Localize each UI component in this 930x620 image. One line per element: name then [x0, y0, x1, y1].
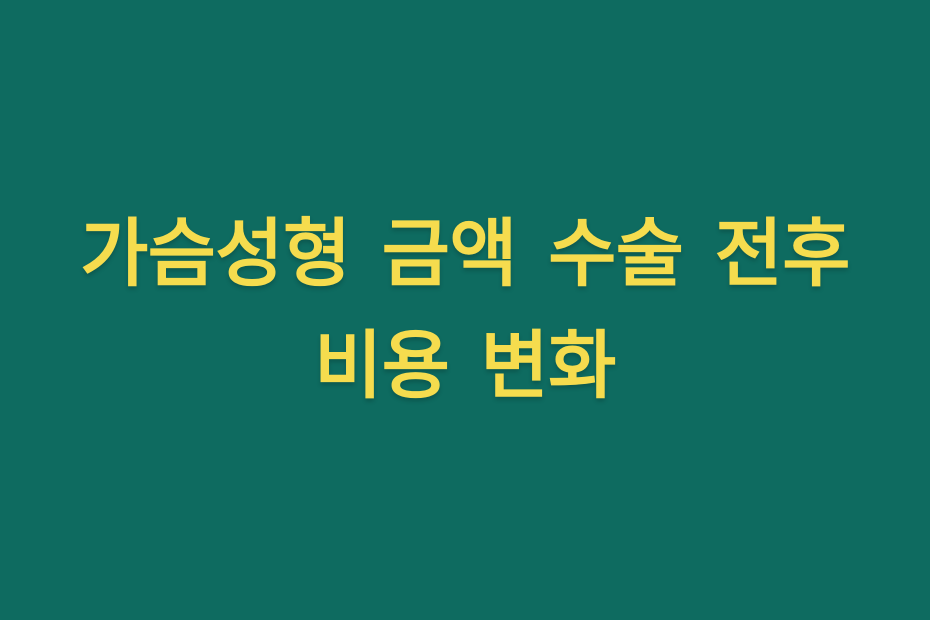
headline-line-1: 가슴성형 금액 수술 전후 [24, 198, 906, 310]
title-banner: 가슴성형 금액 수술 전후 비용 변화 [0, 0, 930, 620]
page-title: 가슴성형 금액 수술 전후 비용 변화 [0, 198, 930, 422]
headline-line-2: 비용 변화 [24, 310, 906, 422]
